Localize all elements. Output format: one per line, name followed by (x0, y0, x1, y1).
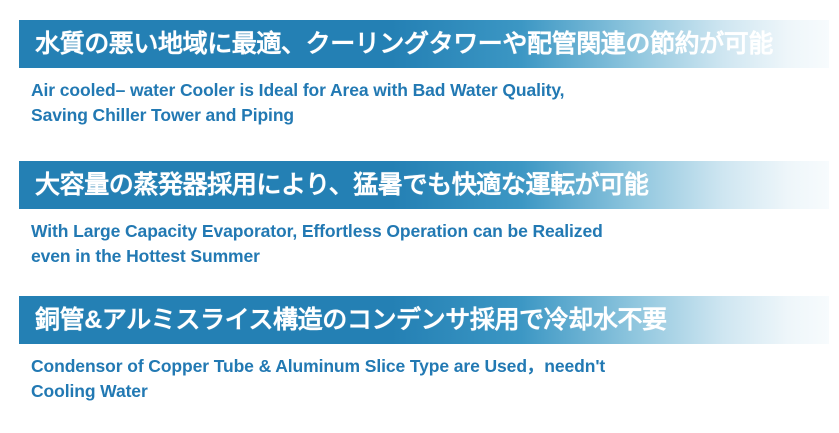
feature-subtitle-line: Air cooled– water Cooler is Ideal for Ar… (31, 78, 771, 103)
feature-headline-japanese: 銅管&アルミスライス構造のコンデンサ採用で冷却水不要 (19, 308, 667, 333)
feature-block: 銅管&アルミスライス構造のコンデンサ採用で冷却水不要 Condensor of … (0, 296, 839, 405)
feature-block: 水質の悪い地域に最適、クーリングタワーや配管関連の節約が可能 Air coole… (0, 20, 839, 129)
feature-headline-japanese: 大容量の蒸発器採用により、猛暑でも快適な運転が可能 (19, 173, 649, 198)
feature-banner: 水質の悪い地域に最適、クーリングタワーや配管関連の節約が可能 (19, 20, 829, 68)
feature-subtitle-line: Condensor of Copper Tube & Aluminum Slic… (31, 354, 771, 379)
feature-list-slide: 水質の悪い地域に最適、クーリングタワーや配管関連の節約が可能 Air coole… (0, 0, 839, 433)
feature-subtitle-english: Air cooled– water Cooler is Ideal for Ar… (31, 78, 771, 129)
feature-subtitle-line: With Large Capacity Evaporator, Effortle… (31, 219, 771, 244)
feature-subtitle-line: even in the Hottest Summer (31, 244, 771, 269)
feature-subtitle-english: With Large Capacity Evaporator, Effortle… (31, 219, 771, 270)
feature-subtitle-line: Saving Chiller Tower and Piping (31, 103, 771, 128)
feature-banner: 大容量の蒸発器採用により、猛暑でも快適な運転が可能 (19, 161, 829, 209)
feature-banner: 銅管&アルミスライス構造のコンデンサ採用で冷却水不要 (19, 296, 829, 344)
feature-headline-japanese: 水質の悪い地域に最適、クーリングタワーや配管関連の節約が可能 (19, 32, 773, 57)
feature-block: 大容量の蒸発器採用により、猛暑でも快適な運転が可能 With Large Cap… (0, 161, 839, 270)
feature-subtitle-english: Condensor of Copper Tube & Aluminum Slic… (31, 354, 771, 405)
feature-subtitle-line: Cooling Water (31, 379, 771, 404)
